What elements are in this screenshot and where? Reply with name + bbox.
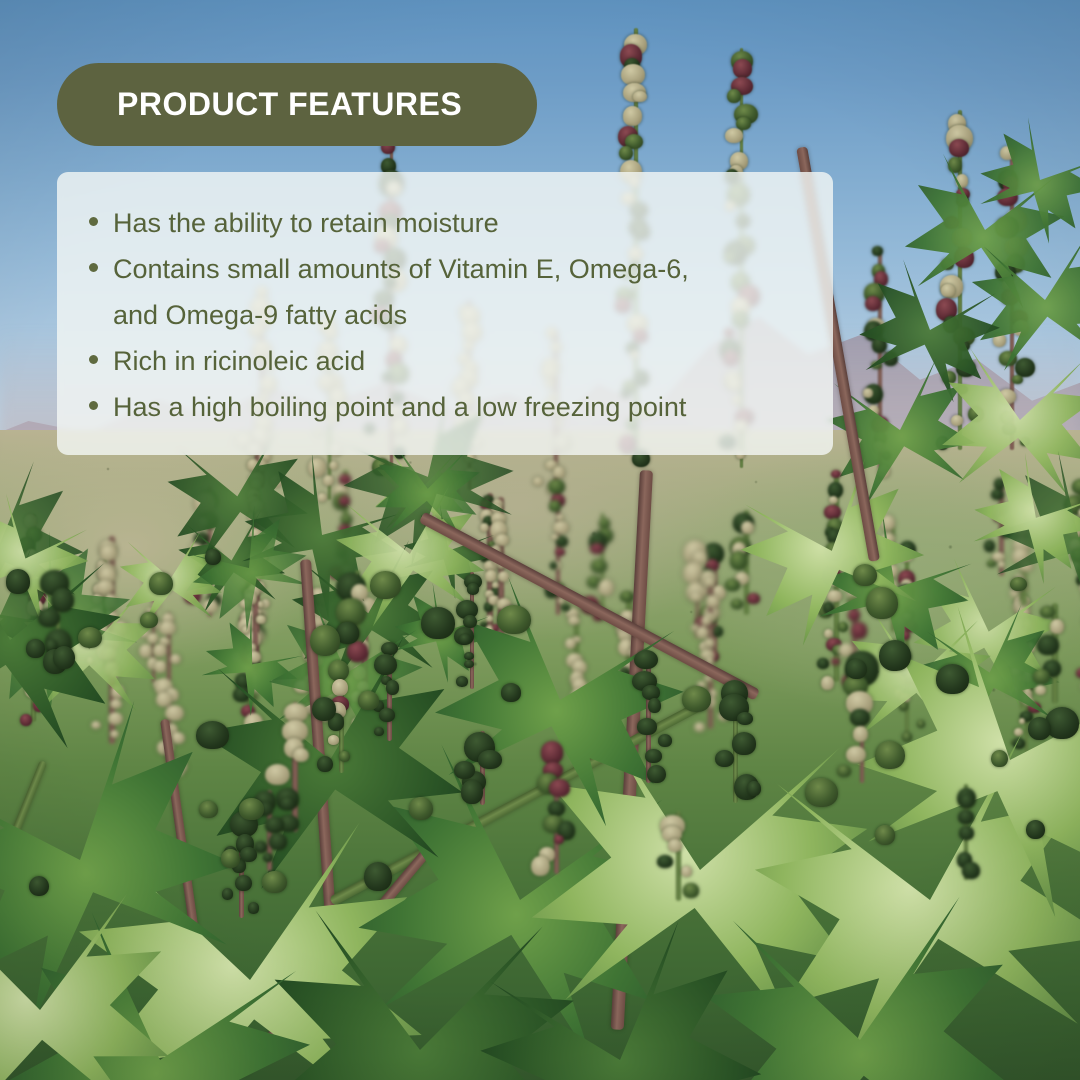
bullet-icon: [89, 401, 98, 410]
feature-text: Rich in ricinoleic acid: [113, 338, 365, 384]
bullet-icon: [89, 217, 98, 226]
feature-text: Has a high boiling point and a low freez…: [113, 384, 686, 430]
poster-canvas: PRODUCT FEATURES Has the ability to reta…: [0, 0, 1080, 1080]
background-photo: [0, 0, 1080, 1080]
features-panel: Has the ability to retain moistureContai…: [57, 172, 833, 455]
feature-item: Has the ability to retain moisture: [57, 200, 833, 246]
bullet-icon: [89, 263, 98, 272]
bullet-icon: [89, 355, 98, 364]
feature-text: Contains small amounts of Vitamin E, Ome…: [113, 246, 689, 338]
badge-title: PRODUCT FEATURES: [117, 86, 462, 123]
feature-item: Contains small amounts of Vitamin E, Ome…: [57, 246, 833, 338]
feature-item: Rich in ricinoleic acid: [57, 338, 833, 384]
product-features-badge: PRODUCT FEATURES: [57, 63, 537, 146]
feature-item: Has a high boiling point and a low freez…: [57, 384, 833, 430]
feature-list: Has the ability to retain moistureContai…: [57, 172, 833, 430]
feature-text: Has the ability to retain moisture: [113, 200, 499, 246]
